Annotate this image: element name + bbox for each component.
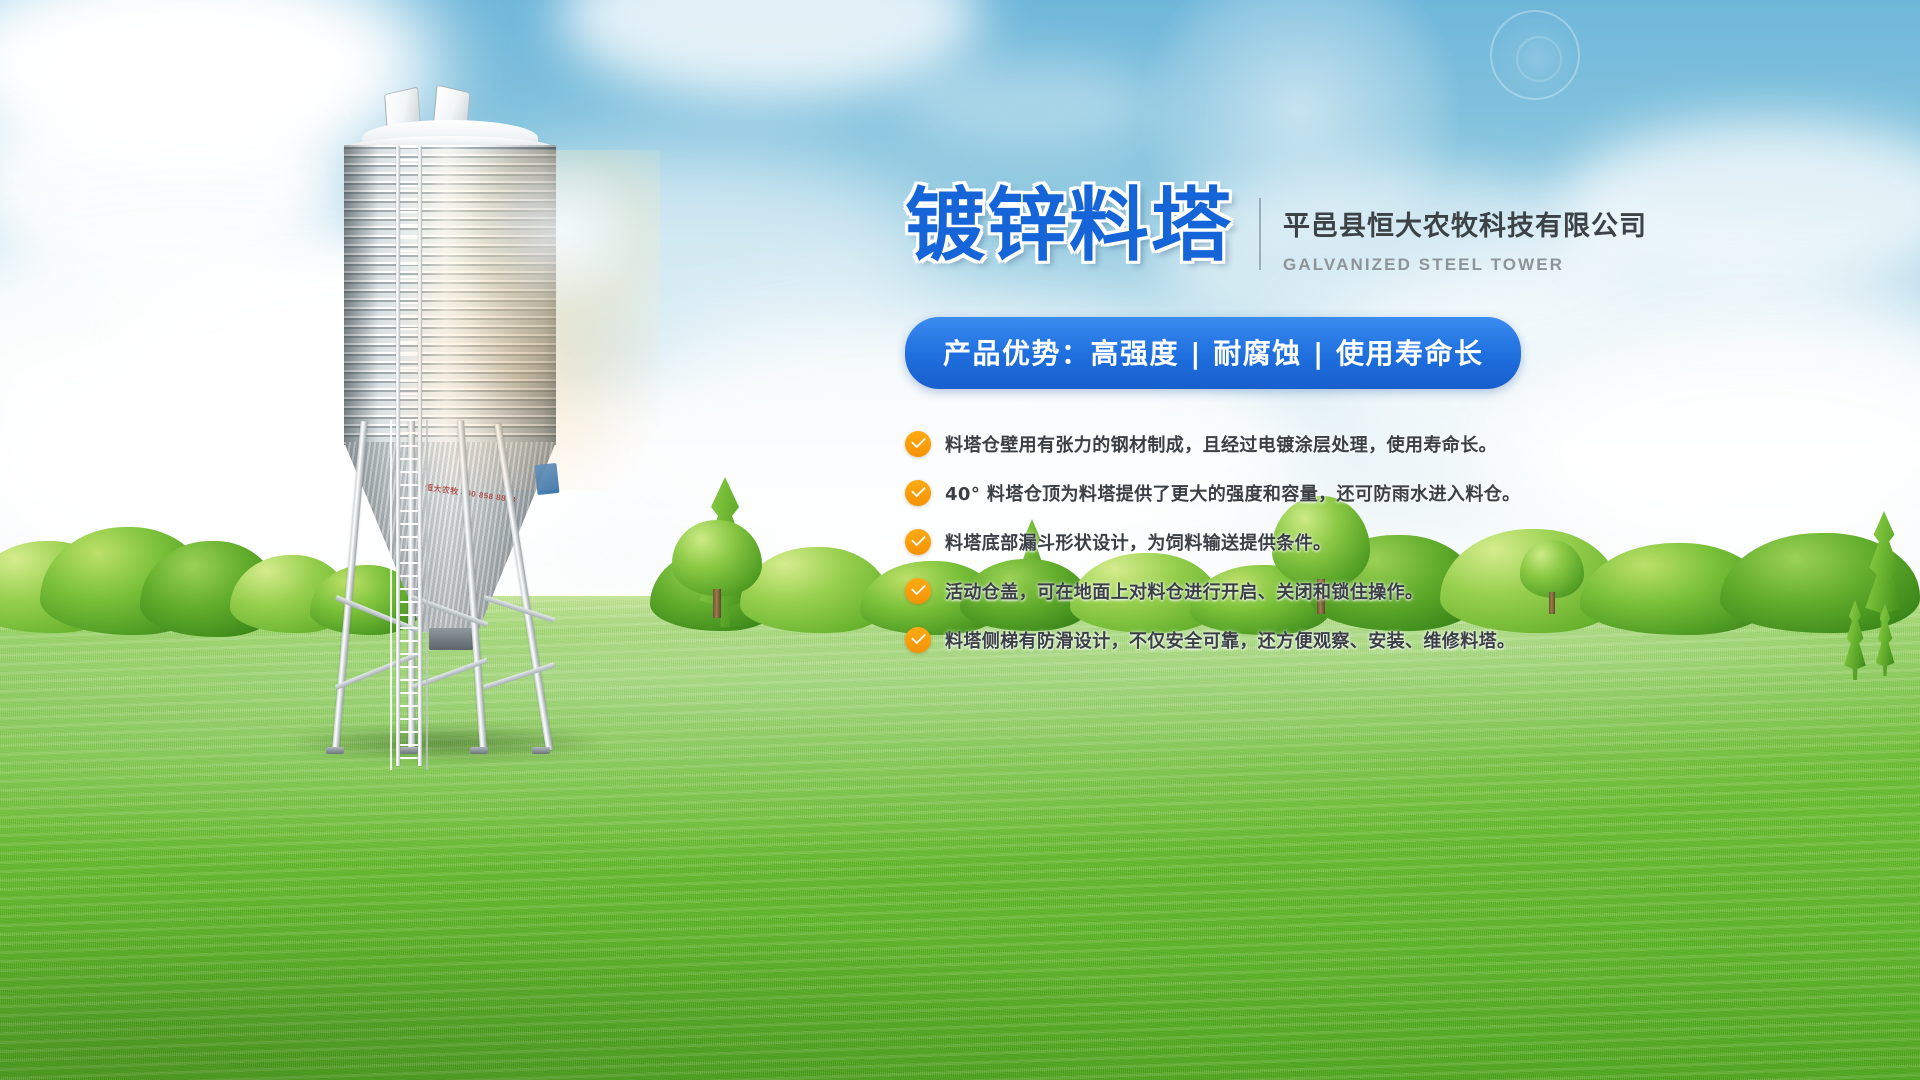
company-block: 平邑县恒大农牧科技有限公司 GALVANIZED STEEL TOWER (1283, 186, 1647, 275)
tree-trunk (713, 589, 720, 618)
silo-discharge-outlet (429, 628, 473, 650)
banner-stage: 恒大农牧 400 858 8818 镀锌料塔 平邑县恒 (0, 0, 1920, 1080)
tree-crown (672, 520, 762, 596)
list-item: 40° 料塔仓顶为料塔提供了更大的强度和容量，还可防雨水进入料仓。 (905, 480, 1665, 506)
feature-text: 活动仓盖，可在地面上对料仓进行开启、关闭和锁住操作。 (945, 578, 1423, 604)
english-subtitle: GALVANIZED STEEL TOWER (1283, 255, 1647, 275)
feature-text: 料塔仓壁用有张力的钢材制成，且经过电镀涂层处理，使用寿命长。 (945, 431, 1497, 457)
silo-cross-brace (483, 662, 555, 690)
list-item: 料塔底部漏斗形状设计，为饲料输送提供条件。 (905, 529, 1665, 555)
list-item: 料塔侧梯有防滑设计，不仅安全可靠，还方便观察、安装、维修料塔。 (905, 627, 1665, 653)
silo-foot-pad (470, 747, 488, 754)
list-item: 活动仓盖，可在地面上对料仓进行开启、关闭和锁住操作。 (905, 578, 1665, 604)
silo-foot-pad (532, 747, 550, 754)
cloud (900, 60, 1160, 150)
feature-list: 料塔仓壁用有张力的钢材制成，且经过电镀涂层处理，使用寿命长。 40° 料塔仓顶为… (905, 431, 1665, 653)
check-circle-icon (905, 480, 931, 506)
check-circle-icon (905, 431, 931, 457)
silo-side-ladder (396, 146, 422, 766)
ladder-rail (418, 146, 422, 766)
feature-text: 40° 料塔仓顶为料塔提供了更大的强度和容量，还可防雨水进入料仓。 (945, 480, 1521, 506)
silo-barrel (344, 145, 556, 445)
content-panel: 镀锌料塔 平邑县恒大农牧科技有限公司 GALVANIZED STEEL TOWE… (905, 186, 1665, 676)
silo-cross-brace (483, 595, 555, 623)
title-row: 镀锌料塔 平邑县恒大农牧科技有限公司 GALVANIZED STEEL TOWE… (905, 186, 1665, 275)
vertical-divider (1259, 198, 1261, 270)
silo-blue-fitting (534, 463, 559, 495)
feature-text: 料塔侧梯有防滑设计，不仅安全可靠，还方便观察、安装、维修料塔。 (945, 627, 1515, 653)
list-item: 料塔仓壁用有张力的钢材制成，且经过电镀涂层处理，使用寿命长。 (905, 431, 1665, 457)
check-circle-icon (905, 529, 931, 555)
page-title: 镀锌料塔 (905, 186, 1233, 266)
galvanized-feed-tower: 恒大农牧 400 858 8818 (300, 90, 600, 750)
silo-leg (332, 421, 368, 750)
ladder-rail (396, 146, 400, 766)
silo-foot-pad (326, 747, 344, 754)
feature-text: 料塔底部漏斗形状设计，为饲料输送提供条件。 (945, 529, 1331, 555)
check-circle-icon (905, 578, 931, 604)
advantage-badge: 产品优势：高强度 | 耐腐蚀 | 使用寿命长 (905, 317, 1521, 389)
check-circle-icon (905, 627, 931, 653)
company-name: 平邑县恒大农牧科技有限公司 (1283, 204, 1647, 243)
silo-shading (344, 145, 556, 445)
foreground-tree (672, 520, 762, 618)
